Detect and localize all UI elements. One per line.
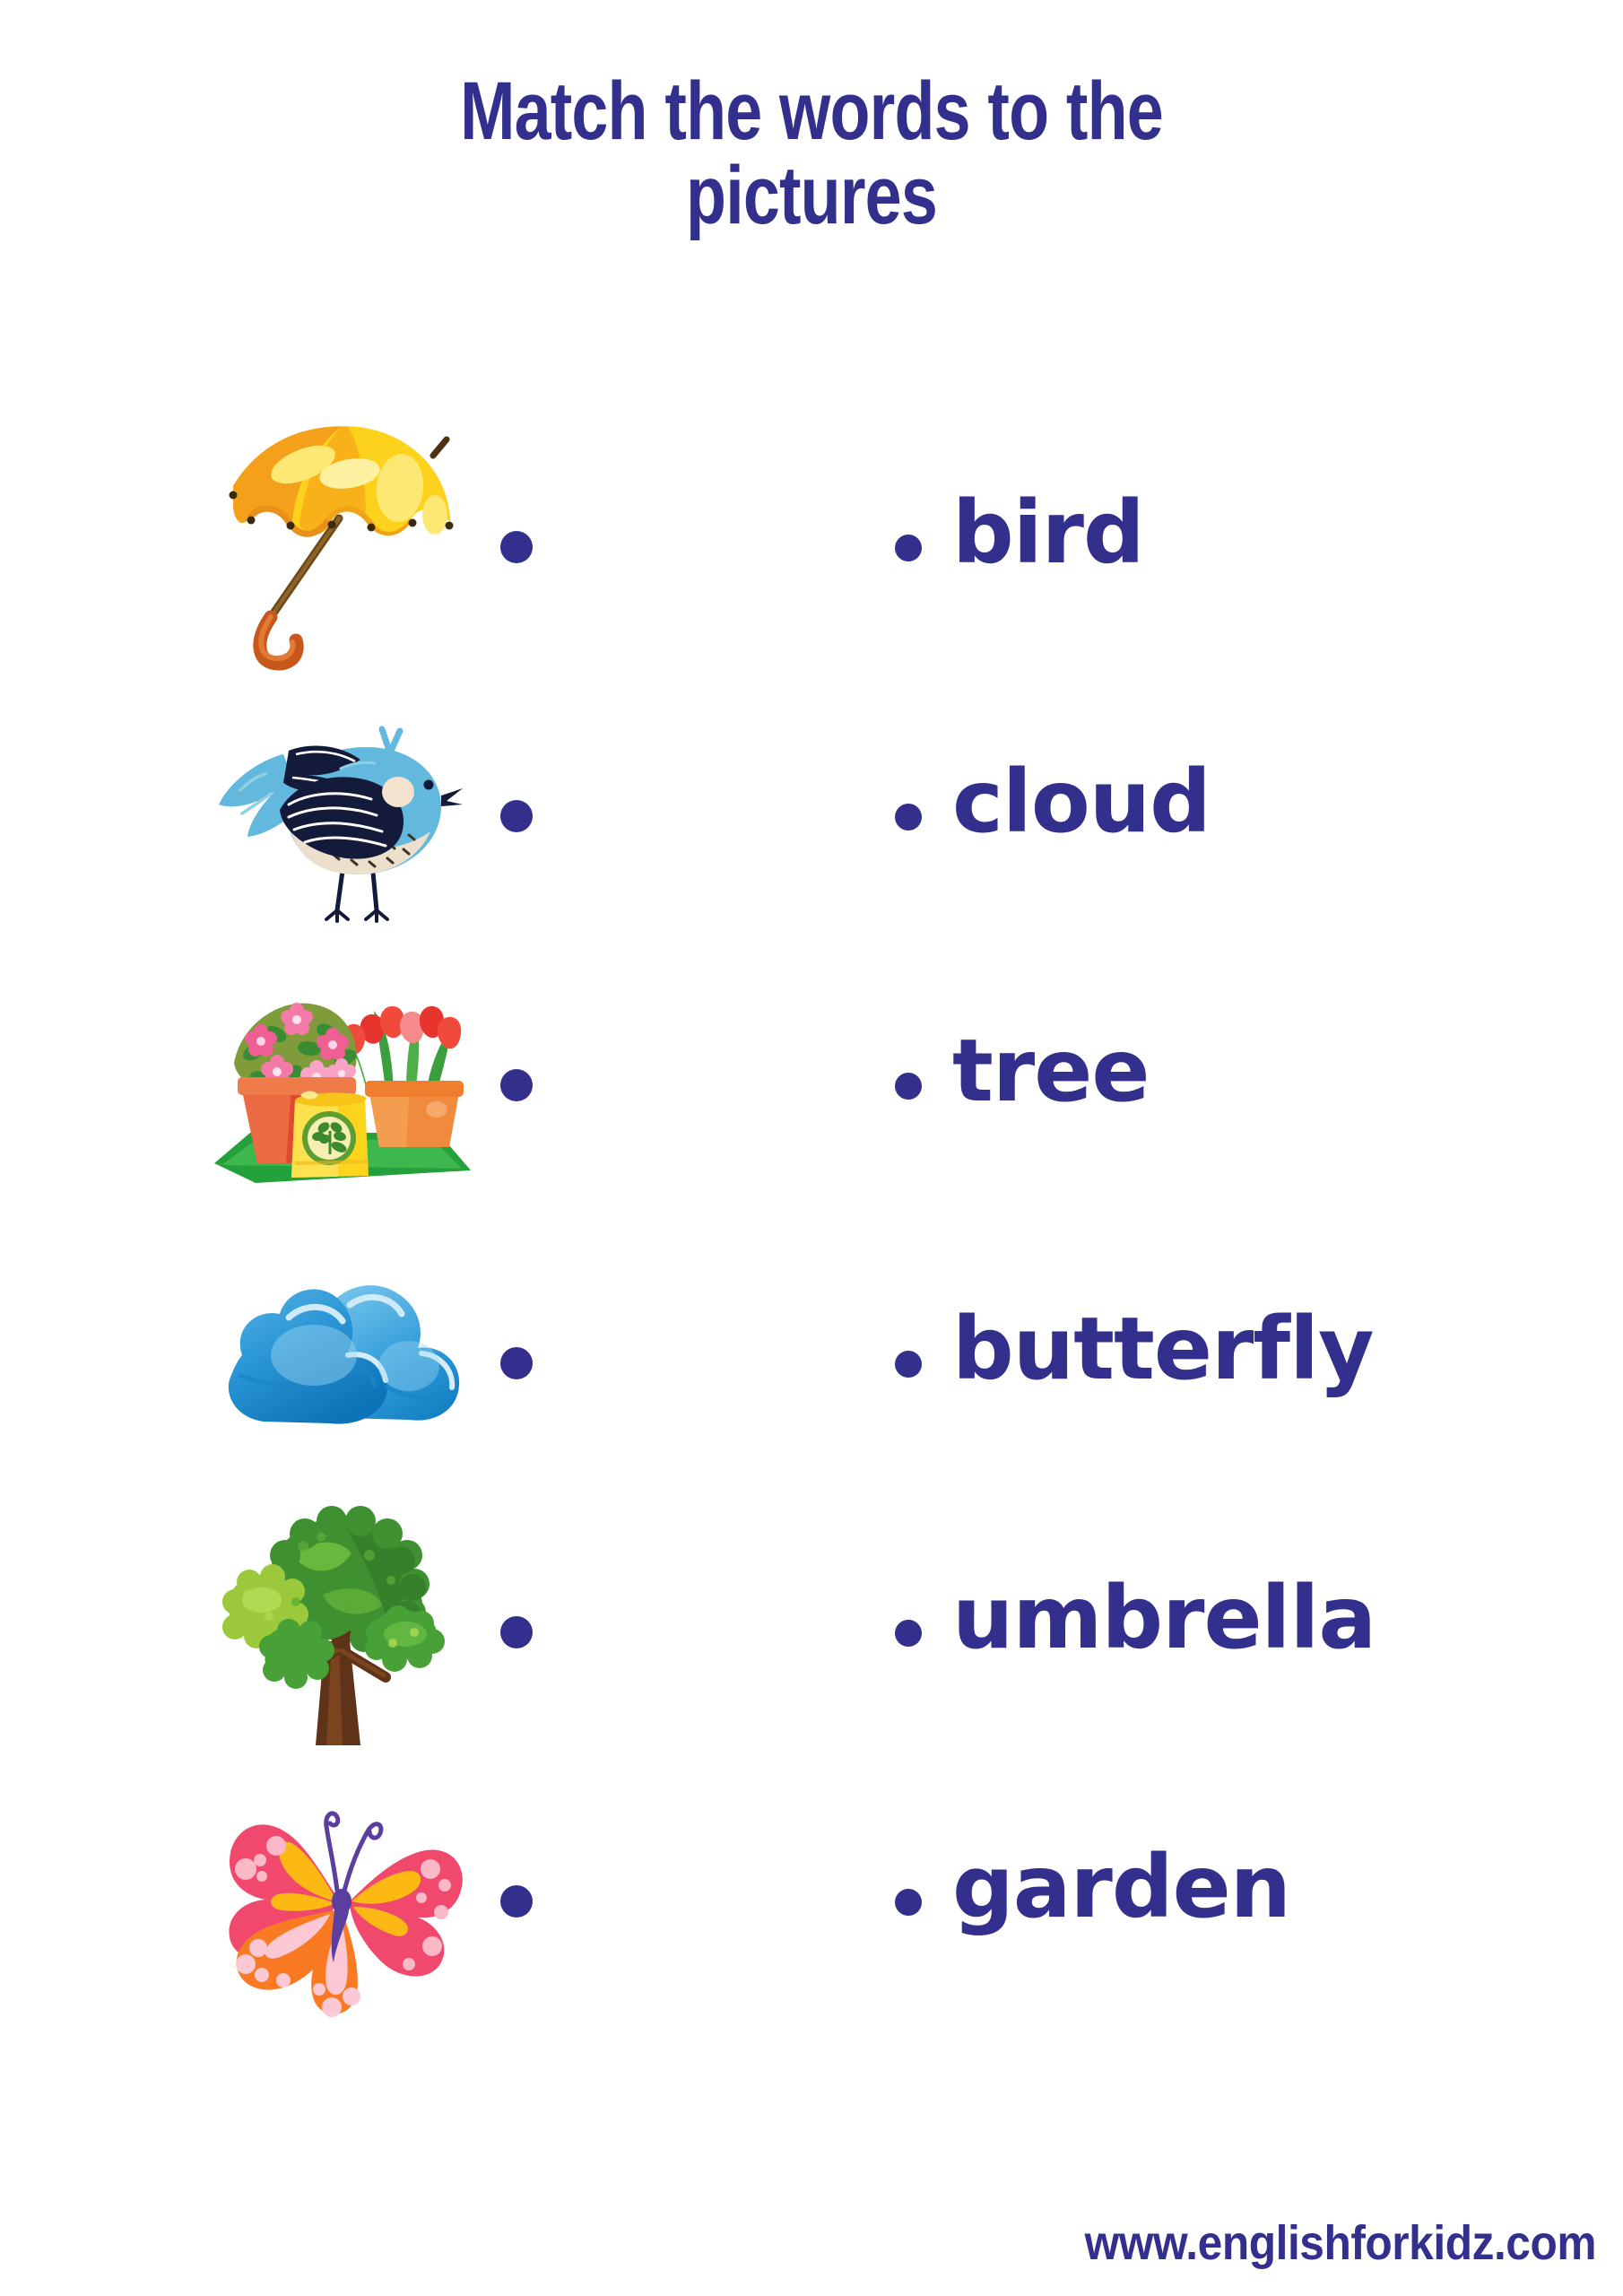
match-exercise: bird <box>0 386 1623 2072</box>
word-umbrella[interactable]: umbrella <box>952 1575 1376 1661</box>
word-cloud[interactable]: cloud <box>952 759 1211 845</box>
match-dot-right[interactable] <box>895 1889 922 1916</box>
match-dot-left[interactable] <box>500 531 533 563</box>
match-dot-right[interactable] <box>895 804 922 831</box>
footer-website-url[interactable]: www.englishforkidz.com <box>1085 2215 1596 2271</box>
match-row: cloud <box>0 682 1623 951</box>
match-dot-left[interactable] <box>500 1616 533 1648</box>
match-dot-left[interactable] <box>500 800 533 832</box>
tree-icon <box>206 1498 475 1767</box>
cloud-icon <box>206 1269 475 1457</box>
match-row: umbrella <box>0 1498 1623 1767</box>
word-tree[interactable]: tree <box>952 1028 1149 1114</box>
word-garden[interactable]: garden <box>952 1844 1290 1930</box>
match-dot-right[interactable] <box>895 1073 922 1100</box>
picture-garden[interactable] <box>188 951 493 1220</box>
match-dot-right[interactable] <box>895 1351 922 1378</box>
match-dot-left[interactable] <box>500 1069 533 1101</box>
picture-cloud[interactable] <box>188 1229 493 1498</box>
match-dot-right[interactable] <box>895 1620 922 1647</box>
match-dot-right[interactable] <box>895 535 922 561</box>
bird-icon <box>206 695 475 937</box>
match-row: bird <box>0 413 1623 682</box>
picture-butterfly[interactable] <box>188 1767 493 2036</box>
match-row: butterfly <box>0 1229 1623 1498</box>
page-title: Match the words to the pictures <box>162 70 1461 239</box>
picture-umbrella[interactable] <box>188 413 493 682</box>
garden-icon <box>202 955 480 1215</box>
match-row: garden <box>0 1767 1623 2036</box>
butterfly-icon <box>206 1776 475 2027</box>
match-dot-left[interactable] <box>500 1885 533 1918</box>
match-dot-left[interactable] <box>500 1347 533 1379</box>
word-bird[interactable]: bird <box>952 490 1144 576</box>
word-butterfly[interactable]: butterfly <box>952 1306 1374 1392</box>
picture-bird[interactable] <box>188 682 493 951</box>
match-row: tree <box>0 951 1623 1220</box>
picture-tree[interactable] <box>188 1498 493 1767</box>
umbrella-icon <box>206 422 475 673</box>
